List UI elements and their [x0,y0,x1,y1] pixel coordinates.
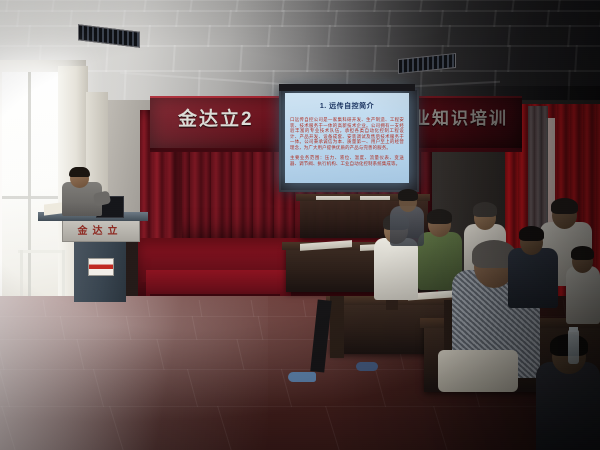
company-logo-sticker [88,258,114,276]
white-rack-leg-right [62,250,65,302]
attendee-corner-dark-body [536,362,600,450]
banner-text-left: 金达立2 [178,104,254,131]
attendee-back-white-hair [551,198,578,214]
projection-screen-valance [279,84,415,91]
podium-plaque-text: 金达立 [62,222,138,237]
slide-paragraph-1: 口远传自控公司是一家集科研开发、生产制造、工程安装、技术服务于一体的高新技术企业… [290,117,404,151]
presenter-hair [69,167,90,177]
attendee-green-hair [427,209,452,224]
seminar-room-photo: 金达立2 专业知识培训 1. 远传自控简介 口远传自控公司是一家集科研开发、生产… [0,0,600,450]
left-window [2,72,60,322]
attendee-rear-row-body [390,206,424,246]
attendee-mid-white-hair [473,202,497,217]
attendee-far-right-hair [571,246,594,260]
window-mullion-horizontal [2,196,60,199]
attendee-sneaker-right [356,362,378,371]
slide-title: 1. 远传自控简介 [285,101,409,111]
slide-paragraph-2: 主要业务范围：压力、液位、温度、流量仪表、变送器、调节阀、执行机构、工业自动化控… [290,155,404,166]
projection-screen: 1. 远传自控简介 口远传自控公司是一家集科研开发、生产制造、工程安装、技术服务… [285,93,409,183]
attendee-striped-trousers [438,350,518,392]
attendee-far-right-body [566,266,600,324]
attendee-right-dark-body [508,248,558,308]
desk-paper-b [360,196,390,200]
attendee-right-dark-hair [519,226,544,241]
attendee-front-left-body [374,238,418,300]
white-rack-shelf [18,250,66,253]
attendee-rear-row-hair [398,189,418,201]
water-bottle-cap [569,327,578,332]
water-bottle-on-desk [568,330,579,364]
white-rack-leg-left [20,250,23,302]
bench-post-3 [330,296,344,358]
attendee-sneaker-left [288,372,316,382]
desk-paper-a [316,196,350,200]
